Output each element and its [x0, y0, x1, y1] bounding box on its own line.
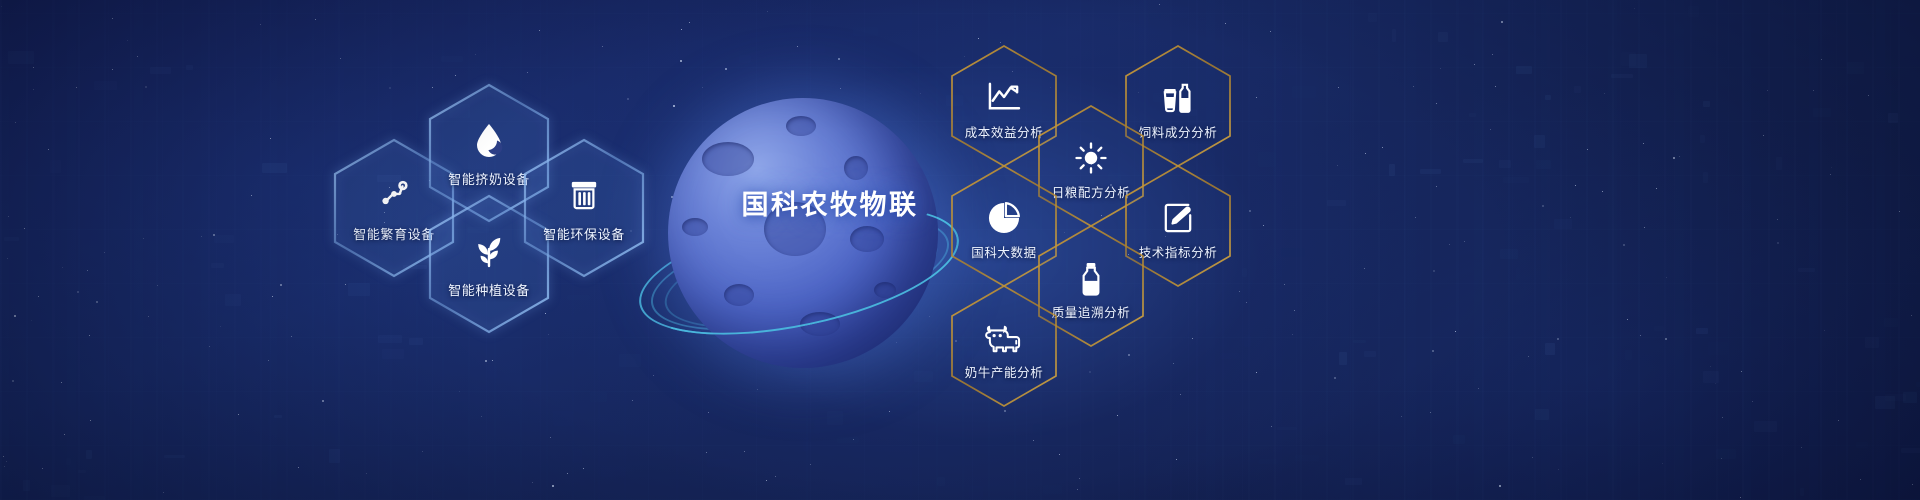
hero-banner: 国科农牧物联 智能繁育设备 智能挤奶设备 智能种植设备 智能环保设备 成本效益分… [0, 0, 1920, 500]
page-title: 国科农牧物联 [700, 183, 960, 222]
hexagon-label: 智能种植设备 [430, 280, 548, 299]
hexagon-label: 智能环保设备 [525, 224, 643, 243]
hexagon-label: 奶牛产能分析 [952, 362, 1056, 381]
hexagon-card-cow[interactable]: 奶牛产能分析 [952, 286, 1056, 406]
planet-graphic [640, 88, 980, 398]
trash-bin-icon [525, 178, 643, 210]
cow-icon [952, 322, 1056, 354]
hexagon-card-trash-bin[interactable]: 智能环保设备 [525, 140, 643, 276]
